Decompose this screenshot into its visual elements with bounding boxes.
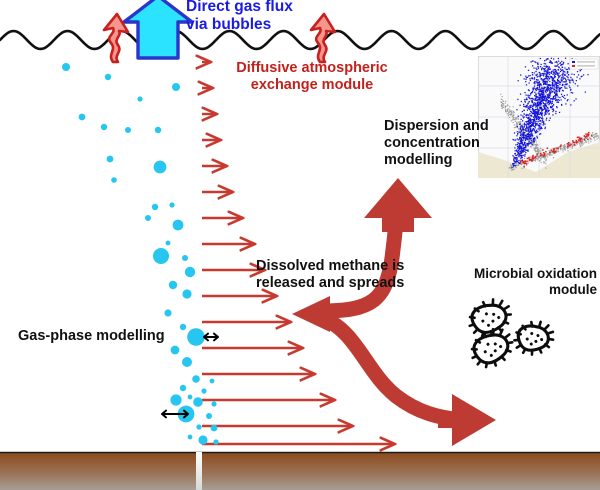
figure-canvas: Direct gas flux via bubbles Diffusive at… bbox=[0, 0, 600, 490]
bubble-13 bbox=[145, 215, 151, 221]
bubble-4 bbox=[79, 114, 86, 121]
bacterium-1 bbox=[511, 317, 558, 360]
bubble-2 bbox=[172, 83, 180, 91]
bubble-21 bbox=[164, 309, 171, 316]
bubble-3 bbox=[137, 96, 142, 101]
bubble-40 bbox=[213, 439, 218, 444]
bubble-0 bbox=[62, 63, 70, 71]
bubble-11 bbox=[152, 204, 158, 210]
bubble-10 bbox=[111, 177, 117, 183]
bubble-32 bbox=[193, 397, 203, 407]
bacteria-icon bbox=[463, 292, 558, 375]
bubble-29 bbox=[201, 388, 206, 393]
seep-pipe-icon bbox=[196, 452, 202, 490]
branch-arrow-left-head bbox=[292, 296, 330, 332]
bubble-39 bbox=[198, 435, 207, 444]
bubble-5 bbox=[101, 124, 107, 130]
branch-arrow-up-head bbox=[364, 178, 432, 232]
bubble-28 bbox=[180, 385, 186, 391]
branch-arrow-right-head bbox=[438, 394, 496, 446]
bubble-8 bbox=[107, 156, 114, 163]
bubble-18 bbox=[185, 267, 195, 277]
label-direct-gas-flux: Direct gas flux via bubbles bbox=[186, 0, 293, 35]
bubble-31 bbox=[170, 394, 181, 405]
bubble-14 bbox=[173, 220, 184, 231]
double-headed-size-arrow-group bbox=[162, 334, 218, 418]
bubble-6 bbox=[125, 127, 131, 133]
bubble-15 bbox=[166, 241, 171, 246]
bubble-25 bbox=[182, 357, 192, 367]
bubble-7 bbox=[155, 127, 161, 133]
bubble-33 bbox=[211, 401, 216, 406]
bubble-30 bbox=[188, 395, 193, 400]
label-dissolved-methane: Dissolved methane is released and spread… bbox=[256, 258, 436, 292]
up-block-arrow-icon bbox=[124, 0, 192, 58]
bubble-35 bbox=[206, 413, 212, 419]
label-dispersion-module: Dispersion and concentration modelling bbox=[384, 118, 519, 169]
bacterium-2 bbox=[465, 321, 520, 375]
bubble-17 bbox=[182, 255, 188, 261]
bubble-37 bbox=[211, 425, 218, 432]
horizontal-spread-arrow-group bbox=[202, 62, 394, 444]
bubble-27 bbox=[210, 379, 215, 384]
bubble-1 bbox=[105, 74, 111, 80]
label-microbial-module: Microbial oxidation module bbox=[452, 266, 597, 298]
bubble-23 bbox=[187, 328, 205, 346]
sea-surface-wave-icon bbox=[0, 31, 600, 49]
seabed bbox=[0, 452, 600, 490]
bubble-plume-icon bbox=[62, 63, 219, 445]
bubble-20 bbox=[182, 289, 191, 298]
size-marker-1 bbox=[162, 411, 188, 418]
label-diffusive-module: Diffusive atmospheric exchange module bbox=[222, 60, 402, 94]
bubble-16 bbox=[153, 248, 169, 264]
size-marker-0 bbox=[204, 334, 218, 341]
bubble-38 bbox=[188, 435, 193, 440]
bubble-36 bbox=[196, 424, 201, 429]
bubble-9 bbox=[154, 161, 167, 174]
wavy-up-arrow-icon-right bbox=[311, 14, 335, 62]
inset-legend bbox=[570, 59, 598, 69]
bubble-12 bbox=[169, 202, 174, 207]
bubble-24 bbox=[171, 346, 180, 355]
bubble-22 bbox=[180, 324, 186, 330]
label-gas-phase-modelling: Gas-phase modelling bbox=[18, 328, 165, 345]
bubble-19 bbox=[169, 281, 177, 289]
bubble-26 bbox=[192, 375, 200, 383]
